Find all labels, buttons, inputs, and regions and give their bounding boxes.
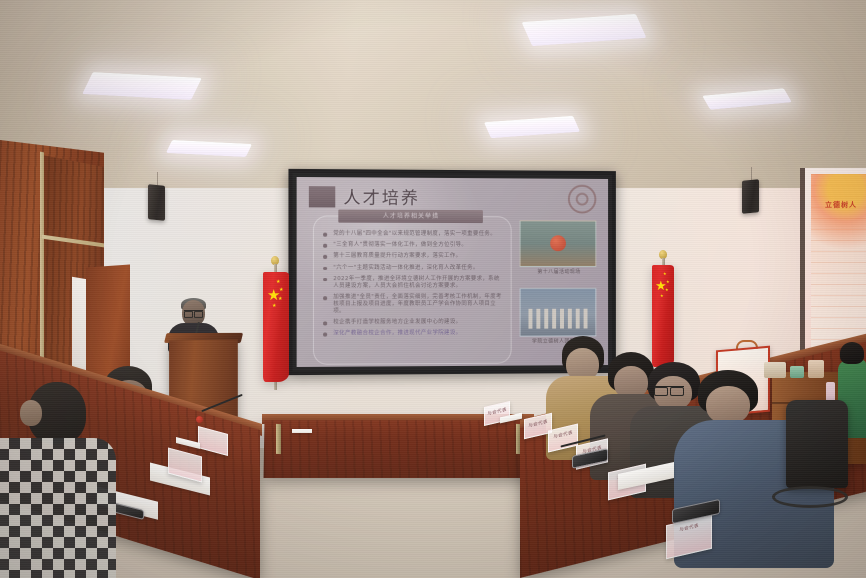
flag-star-small: ★	[272, 304, 276, 309]
wall-speaker-left	[148, 184, 165, 220]
wall-speaker-right	[742, 179, 759, 213]
slide-bullet: "六个一"主题实践活动一体化推进，深化育人改革任务。	[322, 264, 505, 271]
slide-band: 人才培养相关举措	[338, 210, 483, 224]
meeting-room-photo: 人才培养 人才培养相关举措 党的十八届"四中全会"以来规范管理制度，落实一项重要…	[0, 0, 866, 578]
flag-star-small: ★	[665, 288, 669, 292]
chinese-flag-left: ★ ★ ★ ★ ★	[263, 272, 289, 382]
slide-bullet: 第十三届教育质量提升行动方案要求，落实工作。	[322, 253, 505, 260]
office-chair[interactable]	[786, 400, 848, 488]
attendee-torso	[0, 438, 116, 578]
chair-base	[772, 486, 848, 508]
slide-bullet: "三全育人"贯彻落实一体化工作，做到全方位引导。	[322, 242, 505, 249]
slide-bullet: 校企携手打造学校服务地方企业发展中心的建设。	[322, 319, 505, 327]
microphone-head	[196, 416, 203, 423]
attendee-head	[706, 386, 750, 424]
slide-bullet: 加强推进"全员"责任，全面落实细则，完善考核工作机制，年度考核项目上报及项目进度…	[322, 294, 505, 315]
speaker-wire	[157, 172, 158, 186]
slide-band-label: 人才培养相关举措	[338, 211, 483, 221]
slide-section-tag	[309, 186, 335, 207]
attendee-head	[840, 342, 864, 364]
table-gold-accent	[276, 424, 281, 454]
apple-graphic-icon	[550, 235, 566, 251]
window-banner-text: 立德树人	[815, 200, 866, 210]
placard-text: 与会代表	[527, 418, 549, 429]
glasses-icon	[184, 310, 203, 316]
slide-body-box: 人才培养相关举措 党的十八届"四中全会"以来规范管理制度，落实一项重要任务。 "…	[313, 215, 512, 364]
flag-star-small: ★	[279, 288, 283, 293]
flag-star-small: ★	[666, 280, 670, 284]
slide-bullet: 党的十八届"四中全会"以来规范管理制度，落实一项重要任务。	[322, 231, 505, 238]
placard-text: 与会代表	[551, 429, 575, 441]
attendee-head	[20, 400, 42, 426]
glasses-icon	[654, 386, 684, 394]
attendee-checkered-coat	[0, 382, 110, 578]
flag-star-small: ★	[660, 294, 664, 298]
slide-photo-event	[520, 220, 597, 267]
slide-photo-caption: 第十八届活动现场	[522, 268, 597, 275]
flag-star-small: ★	[276, 280, 280, 285]
flag-star-small: ★	[278, 297, 282, 302]
slide-title: 人才培养	[343, 183, 420, 209]
slide-photo-group	[520, 288, 597, 337]
flag-star-small: ★	[663, 272, 667, 276]
slide-bullet-list: 党的十八届"四中全会"以来规范管理制度，落实一项重要任务。 "三全育人"贯彻落实…	[322, 231, 505, 342]
table-device	[292, 429, 312, 433]
institution-emblem-icon	[568, 185, 596, 214]
slide-bullet: 深化产教融合校企合作，推进现代产业学院建设。	[322, 330, 505, 338]
group-photo-figures	[528, 309, 587, 329]
slide-bullet: 2022年一季度，推进全环境立德树人工作开展的方案要求，系统人员建设方案，人员大…	[322, 276, 505, 290]
